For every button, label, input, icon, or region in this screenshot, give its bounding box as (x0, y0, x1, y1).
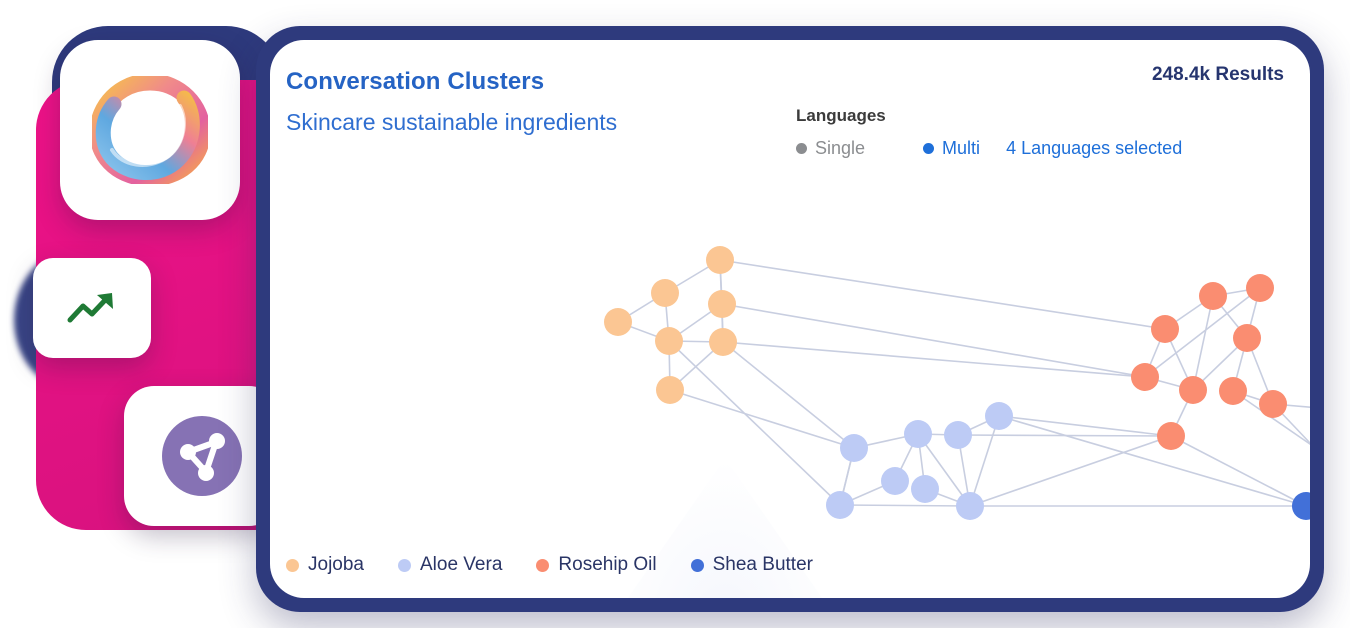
graph-node[interactable] (651, 279, 679, 307)
graph-node-layer[interactable] (604, 246, 1310, 550)
graph-edge (999, 416, 1171, 436)
graph-node[interactable] (1179, 376, 1207, 404)
legend-item[interactable]: Shea Butter (691, 554, 813, 576)
legend-dot-icon (286, 559, 299, 572)
graph-node[interactable] (604, 308, 632, 336)
legend-dot-icon (691, 559, 704, 572)
graph-node[interactable] (826, 491, 854, 519)
languages-label: Languages (796, 106, 1182, 126)
graph-node[interactable] (944, 421, 972, 449)
graph-node[interactable] (656, 376, 684, 404)
graph-edge (1171, 436, 1306, 506)
single-dot-icon (796, 143, 807, 154)
network-share-icon (154, 408, 250, 504)
graph-node[interactable] (1259, 390, 1287, 418)
languages-selected-link[interactable]: 4 Languages selected (1006, 138, 1182, 159)
graph-edge (958, 435, 1171, 436)
graph-edge (723, 342, 854, 448)
graph-node[interactable] (706, 246, 734, 274)
graph-node[interactable] (985, 402, 1013, 430)
graph-edge (970, 416, 999, 506)
graph-edge (669, 341, 840, 505)
graph-node[interactable] (840, 434, 868, 462)
cluster-legend: JojobaAloe VeraRosehip OilShea Butter (286, 554, 847, 576)
languages-options: Single Multi 4 Languages selected (796, 138, 1182, 159)
graph-node[interactable] (904, 420, 932, 448)
language-option-multi-label: Multi (942, 138, 980, 159)
graph-edge (720, 260, 1165, 329)
trend-card[interactable] (33, 258, 151, 358)
legend-item-label: Aloe Vera (420, 554, 502, 576)
graph-edge (1193, 296, 1213, 390)
graph-node[interactable] (956, 492, 984, 520)
page-title: Conversation Clusters (286, 68, 544, 96)
language-option-single[interactable]: Single (796, 138, 865, 159)
graph-node[interactable] (1233, 324, 1261, 352)
screenshot-root: Conversation Clusters Skincare sustainab… (0, 0, 1350, 628)
results-count: 248.4k Results (1152, 64, 1284, 86)
cluster-graph-svg[interactable] (270, 190, 1310, 550)
graph-node[interactable] (708, 290, 736, 318)
page-subtitle: Skincare sustainable ingredients (286, 109, 617, 136)
graph-node[interactable] (911, 475, 939, 503)
language-option-multi[interactable]: Multi (923, 138, 980, 159)
graph-node[interactable] (709, 328, 737, 356)
graph-node[interactable] (655, 327, 683, 355)
legend-item-label: Shea Butter (713, 554, 813, 576)
graph-edge (999, 416, 1306, 506)
graph-edge (723, 342, 1145, 377)
graph-node[interactable] (1151, 315, 1179, 343)
brand-logo-card[interactable] (60, 40, 240, 220)
cluster-graph[interactable] (270, 190, 1310, 550)
graph-node[interactable] (1292, 492, 1310, 520)
legend-dot-icon (536, 559, 549, 572)
graph-edge (970, 436, 1171, 506)
graph-edge (840, 505, 970, 506)
legend-item[interactable]: Aloe Vera (398, 554, 502, 576)
legend-dot-icon (398, 559, 411, 572)
multi-dot-icon (923, 143, 934, 154)
graph-edge (722, 304, 1145, 377)
trending-up-icon (66, 290, 118, 326)
graph-node[interactable] (1199, 282, 1227, 310)
graph-edge (670, 390, 854, 448)
legend-item-label: Jojoba (308, 554, 364, 576)
language-option-single-label: Single (815, 138, 865, 159)
legend-item[interactable]: Rosehip Oil (536, 554, 656, 576)
graph-node[interactable] (1219, 377, 1247, 405)
graph-node[interactable] (1131, 363, 1159, 391)
legend-item[interactable]: Jojoba (286, 554, 364, 576)
graph-node[interactable] (1157, 422, 1185, 450)
gradient-swirl-logo-icon (92, 76, 208, 184)
languages-filter: Languages Single Multi 4 Languages selec… (796, 106, 1182, 159)
graph-node[interactable] (1246, 274, 1274, 302)
conversation-clusters-card: Conversation Clusters Skincare sustainab… (270, 40, 1310, 598)
graph-node[interactable] (881, 467, 909, 495)
legend-item-label: Rosehip Oil (558, 554, 656, 576)
